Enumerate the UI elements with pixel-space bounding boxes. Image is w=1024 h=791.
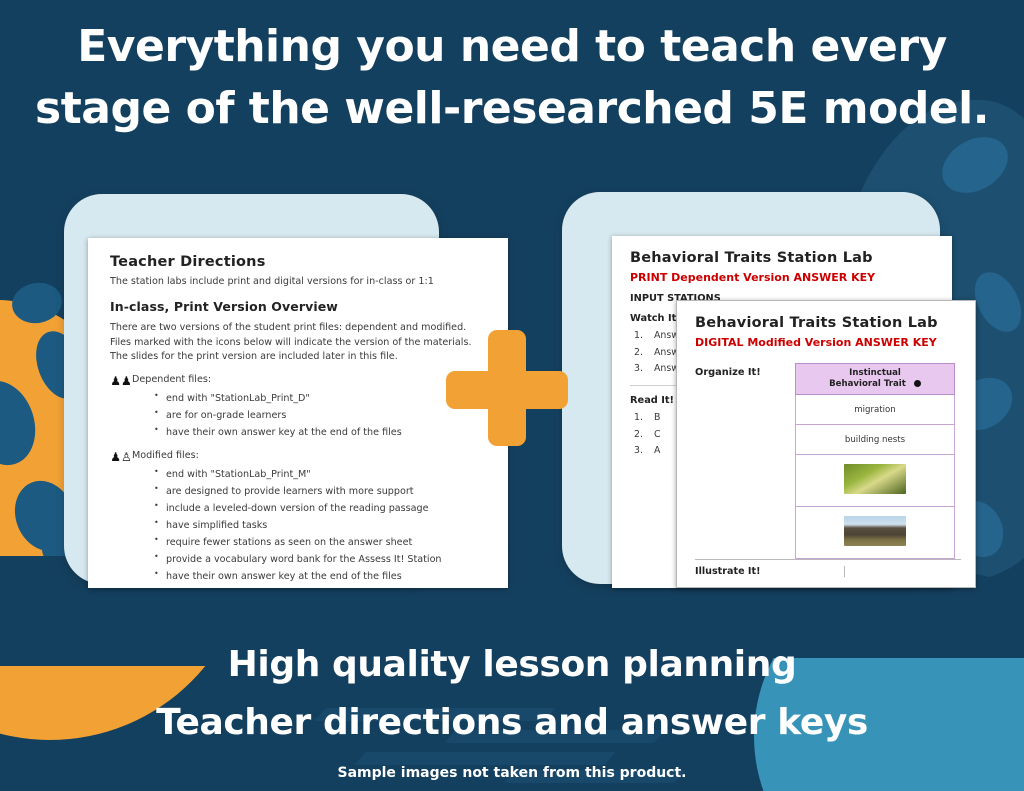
table-cell-building-nests: building nests: [796, 425, 955, 455]
table-header-row: Instinctual Behavioral Trait: [796, 364, 955, 395]
modified-files-label: Modified files:: [132, 450, 199, 461]
adult-and-child-icon: ♟♙: [110, 450, 132, 463]
table-header-cell: Instinctual Behavioral Trait: [796, 364, 955, 395]
headline-line-2: stage of the well-researched 5E model.: [28, 78, 996, 140]
bottom-tagline: High quality lesson planning Teacher dir…: [0, 636, 1024, 751]
item-number: 2.: [634, 346, 654, 360]
doc-subtitle: DIGITAL Modified Version ANSWER KEY: [695, 336, 961, 349]
doc-intro: The station labs include print and digit…: [110, 275, 490, 289]
list-item: require fewer stations as seen on the an…: [154, 534, 490, 551]
plus-vertical-bar: [488, 330, 526, 446]
dependent-files-group: ♟♟ Dependent files:: [110, 374, 490, 387]
wildebeest-herd-photo: [844, 516, 906, 546]
doc-section-heading: In-class, Print Version Overview: [110, 299, 490, 314]
item-number: 2.: [634, 428, 654, 442]
item-text: C: [654, 428, 661, 442]
document-teacher-directions[interactable]: Teacher Directions The station labs incl…: [88, 238, 508, 588]
table-row: migration: [796, 395, 955, 425]
table-cell-migration: migration: [796, 395, 955, 425]
table-row: [796, 507, 955, 559]
header-line-1: Instinctual: [849, 368, 901, 378]
list-item: provide a vocabulary word bank for the A…: [154, 551, 490, 568]
headline-line-1: Everything you need to teach every: [28, 16, 996, 78]
header-line-2: Behavioral Trait: [829, 379, 906, 389]
list-item: end with "StationLab_Print_M": [154, 466, 490, 483]
bullet-dot-icon: [914, 380, 921, 387]
modified-files-list: end with "StationLab_Print_M" are design…: [154, 466, 490, 585]
bottom-line-1: High quality lesson planning: [0, 636, 1024, 694]
doc-title: Teacher Directions: [110, 254, 490, 270]
illustrate-it-label: Illustrate It!: [695, 566, 844, 577]
list-item: are designed to provide learners with mo…: [154, 483, 490, 500]
illustrate-it-row: Illustrate It!: [695, 559, 961, 577]
leaf-insect-photo: [844, 464, 906, 494]
list-item: have their own answer key at the end of …: [154, 424, 490, 441]
headline: Everything you need to teach every stage…: [0, 16, 1024, 141]
list-item: have simplified tasks: [154, 517, 490, 534]
list-item: include a leveled-down version of the re…: [154, 500, 490, 517]
dependent-files-list: end with "StationLab_Print_D" are for on…: [154, 390, 490, 441]
list-item: end with "StationLab_Print_D": [154, 390, 490, 407]
item-text: A: [654, 444, 660, 458]
illustrate-it-blank-cell: [844, 566, 961, 577]
two-figures-icon: ♟♟: [110, 374, 132, 387]
modified-files-group: ♟♙ Modified files:: [110, 450, 490, 463]
table-row: [796, 455, 955, 507]
item-number: 3.: [634, 444, 654, 458]
plus-icon: [446, 330, 568, 446]
disclaimer-text: Sample images not taken from this produc…: [0, 765, 1024, 781]
doc-title: Behavioral Traits Station Lab: [695, 315, 961, 331]
doc-title: Behavioral Traits Station Lab: [630, 250, 936, 266]
list-item: are for on-grade learners: [154, 407, 490, 424]
doc-subtitle: PRINT Dependent Version ANSWER KEY: [630, 271, 936, 284]
item-number: 1.: [634, 329, 654, 343]
instinctual-trait-table: Instinctual Behavioral Trait migration b…: [795, 363, 955, 559]
item-text: B: [654, 411, 660, 425]
list-item: have their own answer key at the end of …: [154, 568, 490, 585]
table-cell-photo-herd: [796, 507, 955, 559]
doc-section-paragraph: There are two versions of the student pr…: [110, 321, 490, 364]
bottom-line-2: Teacher directions and answer keys: [0, 694, 1024, 752]
table-row: building nests: [796, 425, 955, 455]
document-digital-answer-key[interactable]: Behavioral Traits Station Lab DIGITAL Mo…: [676, 300, 976, 588]
item-number: 1.: [634, 411, 654, 425]
table-cell-photo-leaf: [796, 455, 955, 507]
dependent-files-label: Dependent files:: [132, 374, 211, 385]
item-number: 3.: [634, 362, 654, 376]
